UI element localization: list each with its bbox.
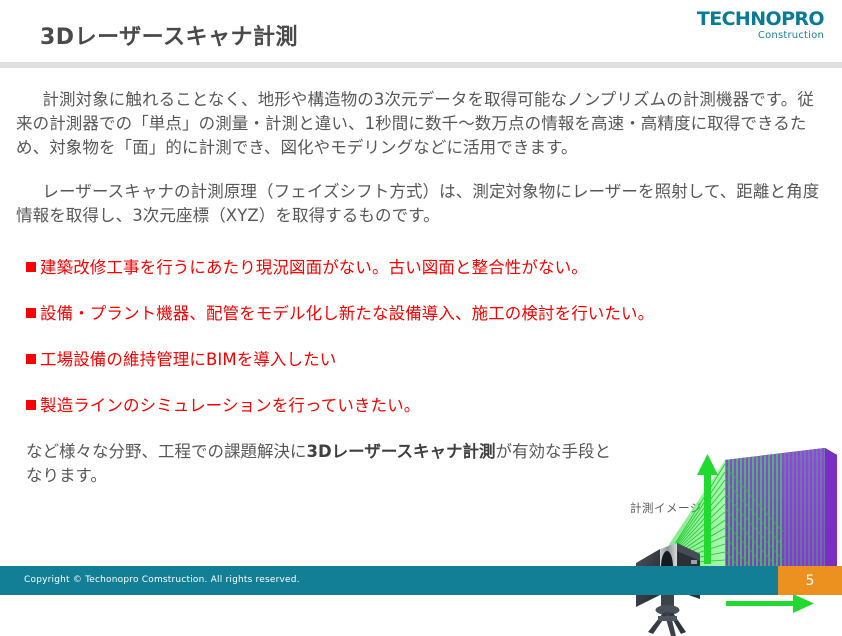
copyright-text: Copyright © Techonopro Comstruction. All… xyxy=(24,575,300,585)
square-bullet-icon xyxy=(26,400,36,410)
slide: 3Dレーザースキャナ計測 TECHNOPRO Construction 計測対象… xyxy=(0,0,842,595)
closing-text-emphasis: 3Dレーザースキャナ計測 xyxy=(307,442,496,461)
intro-paragraph-1: 計測対象に触れることなく、地形や構造物の3次元データを取得可能なノンプリズムの計… xyxy=(16,88,822,160)
closing-text-before: など様々な分野、工程での課題解決に xyxy=(26,442,307,461)
list-item-label: 工場設備の維持管理にBIMを導入したい xyxy=(40,346,336,370)
paragraph-1-text: 計測対象に触れることなく、地形や構造物の3次元データを取得可能なノンプリズムの計… xyxy=(16,90,814,157)
logo-wordmark: TECHNOPRO xyxy=(694,10,824,29)
horizontal-arrow-icon xyxy=(726,594,814,613)
logo-subtitle: Construction xyxy=(694,31,824,41)
square-bullet-icon xyxy=(26,262,36,272)
slide-body: 計測対象に触れることなく、地形や構造物の3次元データを取得可能なノンプリズムの計… xyxy=(0,76,842,556)
intro-paragraph-2: レーザースキャナの計測原理（フェイズシフト方式）は、測定対象物にレーザーを照射し… xyxy=(16,180,822,228)
list-item-label: 設備・プラント機器、配管をモデル化し新たな設備導入、施工の検討を行いたい。 xyxy=(40,300,654,324)
square-bullet-icon xyxy=(26,308,36,318)
slide-footer: Copyright © Techonopro Comstruction. All… xyxy=(0,566,842,595)
list-item: 製造ラインのシミュレーションを行っていきたい。 xyxy=(26,392,420,416)
square-bullet-icon xyxy=(26,354,36,364)
slide-header: 3Dレーザースキャナ計測 TECHNOPRO Construction xyxy=(0,0,842,62)
header-divider xyxy=(0,62,842,68)
closing-paragraph: など様々な分野、工程での課題解決に3Dレーザースキャナ計測が有効な手段となります… xyxy=(26,440,626,488)
measurement-illustration: 計測イメージ xyxy=(620,436,842,636)
page-number: 5 xyxy=(778,566,842,595)
page-title: 3Dレーザースキャナ計測 xyxy=(40,19,298,51)
paragraph-2-text: レーザースキャナの計測原理（フェイズシフト方式）は、測定対象物にレーザーを照射し… xyxy=(16,182,819,225)
list-item: 建築改修工事を行うにあたり現況図面がない。古い図面と整合性がない。 xyxy=(26,254,588,278)
list-item: 工場設備の維持管理にBIMを導入したい xyxy=(26,346,336,370)
scanner-diagram-svg xyxy=(620,436,842,636)
list-item-label: 建築改修工事を行うにあたり現況図面がない。古い図面と整合性がない。 xyxy=(40,254,588,278)
list-item: 設備・プラント機器、配管をモデル化し新たな設備導入、施工の検討を行いたい。 xyxy=(26,300,654,324)
list-item-label: 製造ラインのシミュレーションを行っていきたい。 xyxy=(40,392,420,416)
company-logo: TECHNOPRO Construction xyxy=(694,10,824,41)
